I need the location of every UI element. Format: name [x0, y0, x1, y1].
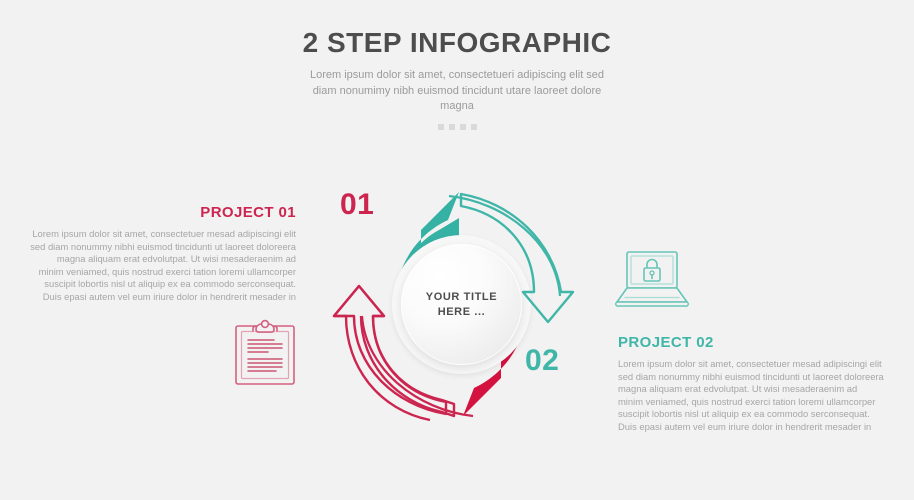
project-01-title: PROJECT 01: [30, 204, 296, 222]
dot-2: [449, 124, 455, 130]
dot-4: [471, 124, 477, 130]
infographic-canvas: 2 STEP INFOGRAPHIC Lorem ipsum dolor sit…: [0, 0, 914, 500]
page-subtitle: Lorem ipsum dolor sit amet, consectetuer…: [307, 68, 607, 115]
project-02-title: PROJECT 02: [618, 334, 884, 352]
clipboard-icon: [232, 316, 298, 393]
step-number-01: 01: [340, 188, 374, 222]
project-01-body: Lorem ipsum dolor sit amet, consectetuer…: [30, 228, 296, 304]
step-number-02: 02: [525, 344, 559, 378]
dot-3: [460, 124, 466, 130]
center-graphic: YOUR TITLE HERE ... 01 02: [318, 188, 604, 420]
laptop-lock-icon: [614, 248, 690, 315]
header: 2 STEP INFOGRAPHIC Lorem ipsum dolor sit…: [0, 26, 914, 130]
project-02-body: Lorem ipsum dolor sit amet, consectetuer…: [618, 358, 884, 434]
page-title: 2 STEP INFOGRAPHIC: [0, 26, 914, 60]
project-01-block: PROJECT 01 Lorem ipsum dolor sit amet, c…: [30, 204, 296, 304]
arrow-outlines: [318, 188, 604, 420]
decorative-dots: [0, 124, 914, 130]
project-02-block: PROJECT 02 Lorem ipsum dolor sit amet, c…: [618, 334, 884, 434]
dot-1: [438, 124, 444, 130]
